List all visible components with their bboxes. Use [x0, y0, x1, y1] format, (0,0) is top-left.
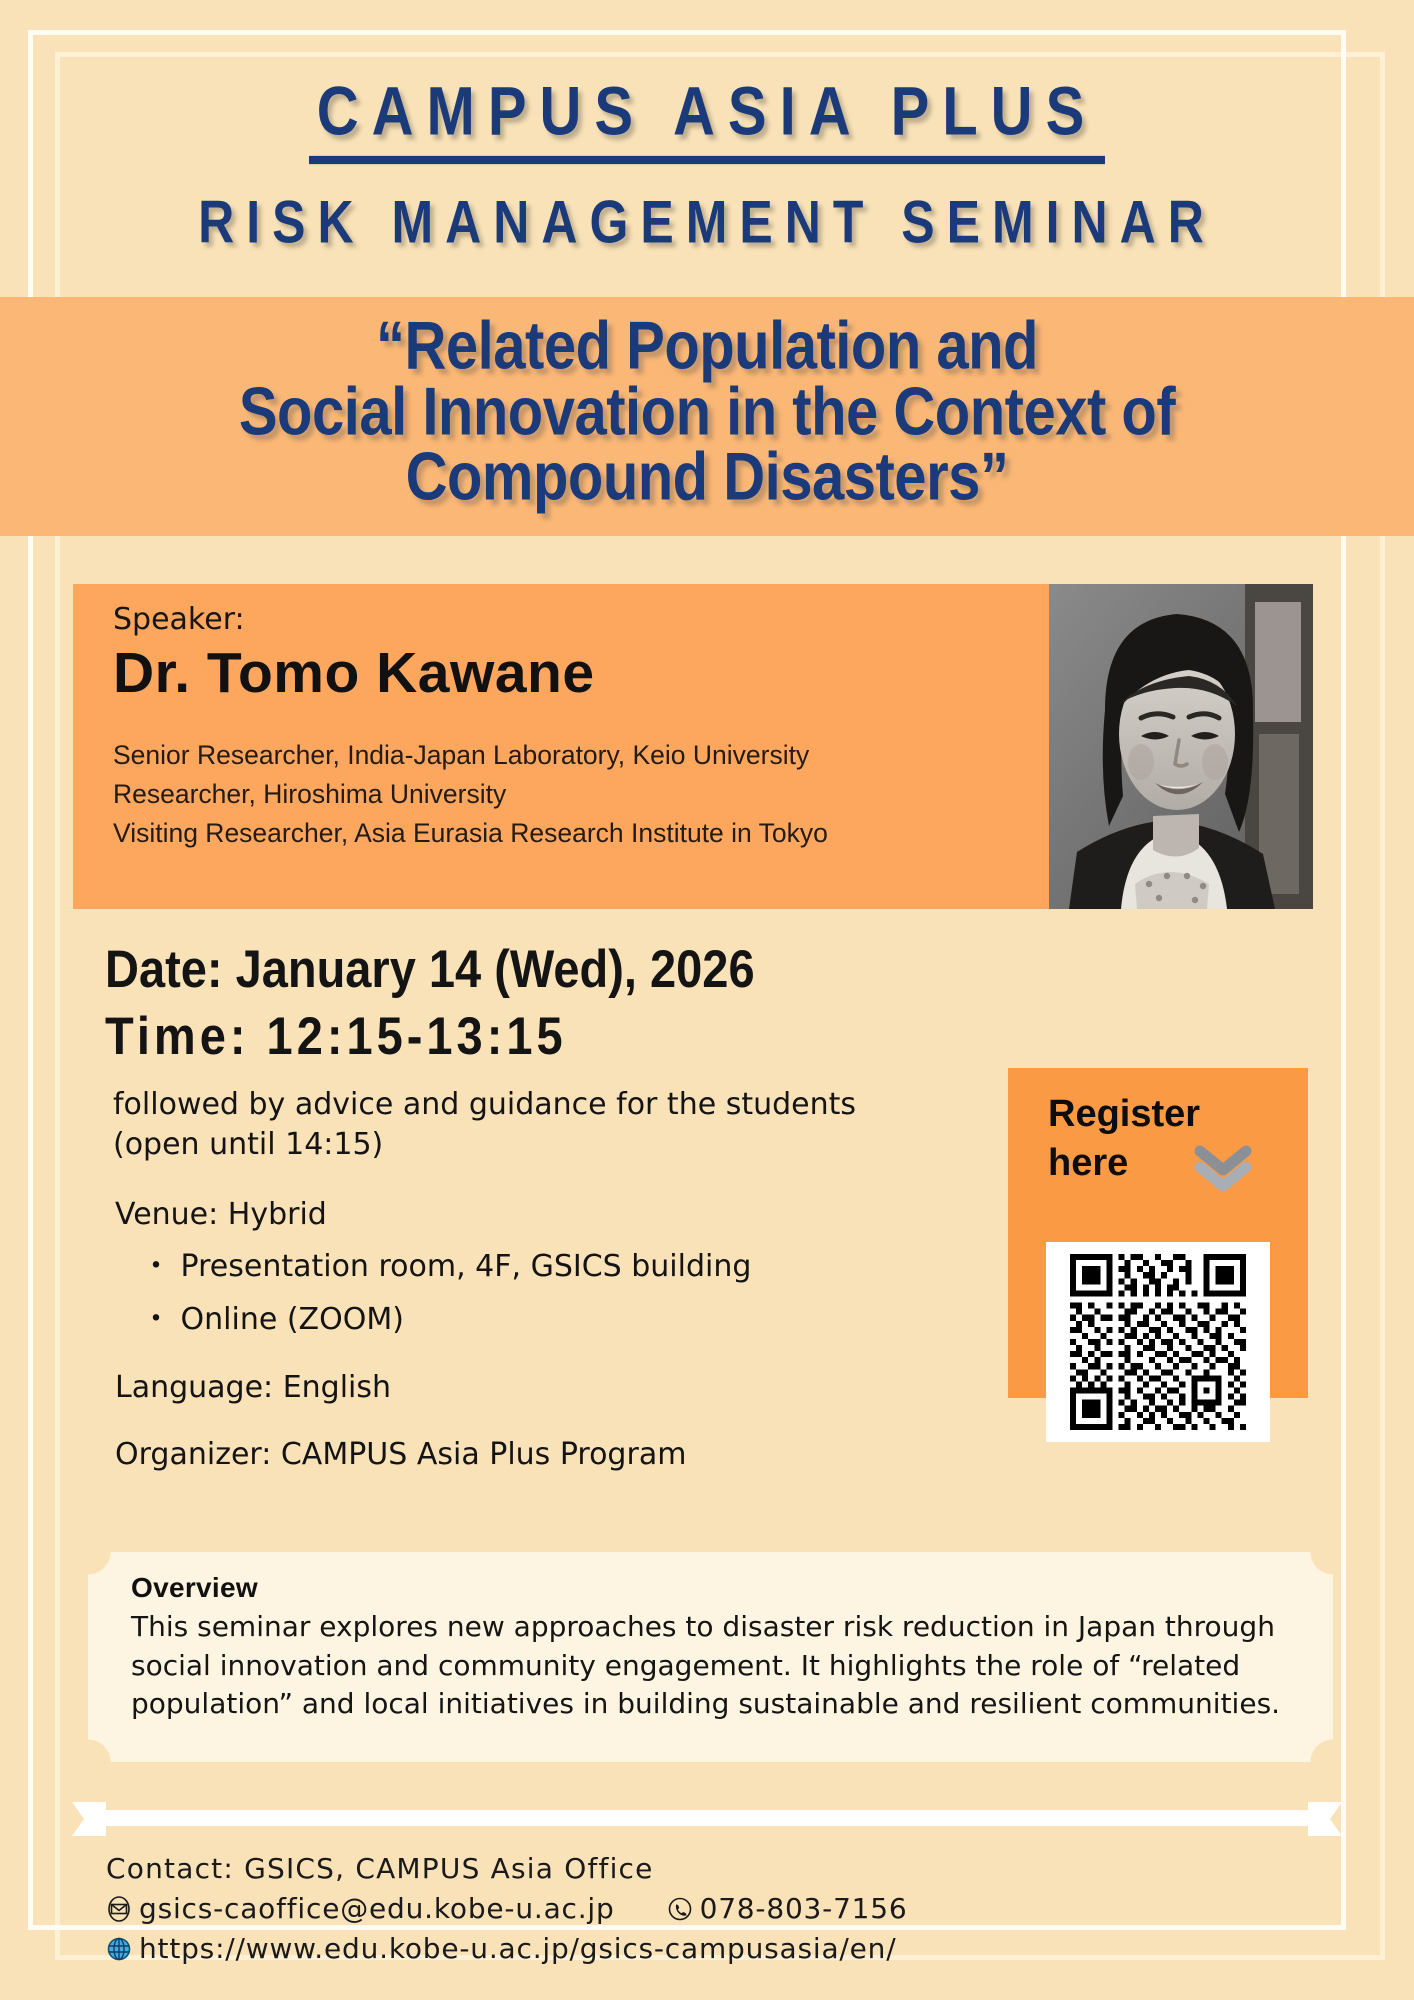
contact-email[interactable]: gsics-caoffice@edu.kobe-u.ac.jp [139, 1892, 615, 1925]
seminar-type-title: RISK MANAGEMENT SEMINAR [0, 190, 1414, 256]
ribbon-divider [72, 1800, 1342, 1838]
register-heading-line-1: Register [1048, 1090, 1278, 1139]
affiliation-line: Researcher, Hiroshima University [113, 775, 828, 814]
qr-code-icon[interactable] [1058, 1254, 1258, 1430]
event-note-line-2: (open until 14:15) [113, 1125, 985, 1165]
event-note-line-1: followed by advice and guidance for the … [113, 1085, 985, 1125]
speaker-photo [1049, 584, 1313, 909]
organizer-label: Organizer: CAMPUS Asia Plus Program [115, 1437, 985, 1472]
overview-card: Overview This seminar explores new appro… [88, 1552, 1333, 1762]
contact-block: Contact: GSICS, CAMPUS Asia Office gsics… [106, 1852, 908, 1965]
language-label: Language: English [115, 1370, 985, 1405]
qr-code-container[interactable] [1046, 1242, 1270, 1442]
phone-icon [667, 1896, 693, 1922]
seminar-title-band: “Related Population and Social Innovatio… [0, 297, 1414, 536]
envelope-icon [106, 1896, 132, 1922]
contact-website[interactable]: https://www.edu.kobe-u.ac.jp/gsics-campu… [139, 1932, 896, 1965]
event-note: followed by advice and guidance for the … [113, 1085, 985, 1165]
event-details: Date: January 14 (Wed), 2026 Time: 12:15… [105, 940, 985, 1472]
overview-body: This seminar explores new approaches to … [131, 1608, 1291, 1724]
globe-icon [106, 1936, 132, 1962]
speaker-name: Dr. Tomo Kawane [113, 640, 595, 706]
chevron-double-down-icon [1194, 1145, 1252, 1191]
affiliation-line: Senior Researcher, India-Japan Laborator… [113, 736, 828, 775]
contact-phone[interactable]: 078-803-7156 [700, 1892, 908, 1925]
program-title: CAMPUS ASIA PLUS [309, 78, 1106, 164]
speaker-section: Speaker: Dr. Tomo Kawane Senior Research… [73, 584, 1313, 909]
venue-label: Venue: Hybrid [115, 1197, 985, 1232]
overview-title: Overview [131, 1572, 258, 1604]
register-panel[interactable]: Register here [1008, 1068, 1308, 1398]
poster-header: CAMPUS ASIA PLUS RISK MANAGEMENT SEMINAR [0, 0, 1414, 250]
contact-heading: Contact: GSICS, CAMPUS Asia Office [106, 1852, 908, 1885]
event-time: Time: 12:15-13:15 [105, 1007, 985, 1066]
affiliation-line: Visiting Researcher, Asia Eurasia Resear… [113, 814, 828, 853]
speaker-label: Speaker: [113, 602, 245, 637]
venue-bullet: ・ Online (ZOOM) [141, 1294, 985, 1338]
event-date: Date: January 14 (Wed), 2026 [105, 940, 985, 999]
venue-bullet: ・ Presentation room, 4F, GSICS building [141, 1241, 985, 1285]
speaker-affiliations: Senior Researcher, India-Japan Laborator… [113, 736, 828, 854]
seminar-poster: CAMPUS ASIA PLUS RISK MANAGEMENT SEMINAR… [0, 0, 1414, 2000]
contact-website-row[interactable]: https://www.edu.kobe-u.ac.jp/gsics-campu… [106, 1932, 908, 1965]
seminar-title-line-3: Compound Disasters” [0, 438, 1414, 515]
contact-email-row[interactable]: gsics-caoffice@edu.kobe-u.ac.jp 078-803-… [106, 1892, 908, 1925]
